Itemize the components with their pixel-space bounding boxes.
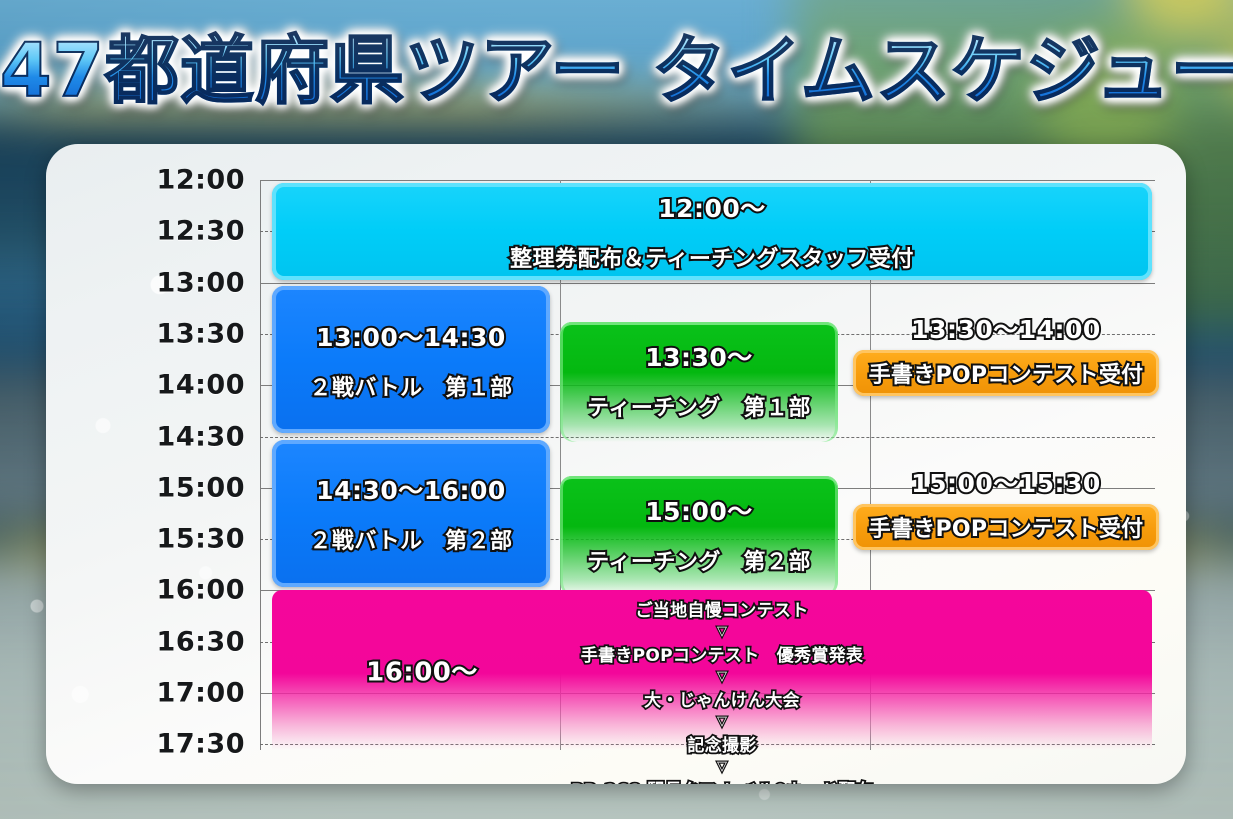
event-name: 手書きPOPコンテスト受付 [869,517,1144,542]
event-pop-reception-2[interactable]: 15:00～15:30手書きPOPコンテスト受付 [860,464,1152,550]
program-arrow-icon: ▽ [717,625,727,638]
event-teaching-1[interactable]: 13:30～ティーチング 第１部 [560,322,838,443]
time-axis-line [260,180,261,750]
program-arrow-icon: ▽ [717,670,727,683]
event-time: 12:00～ [658,189,766,225]
program-item: 記念撮影 [687,731,756,756]
program-arrow-icon: ▽ [717,715,727,728]
program-item: 大・じゃんけん大会 [644,686,800,711]
time-label-1230: 12:30 [85,216,245,247]
event-time: 13:30～ [645,338,753,374]
program-arrow-icon: ▽ [717,760,727,773]
event-name: ティーチング 第１部 [587,390,811,422]
schedule-card: 12:0012:3013:0013:3014:0014:3015:0015:30… [46,144,1186,784]
time-label-1600: 16:00 [85,575,245,606]
event-time: 13:30～14:00 [911,310,1101,346]
event-battle-1[interactable]: 13:00～14:30２戦バトル 第１部 [272,286,550,434]
program-item: ご当地自慢コンテスト [636,596,809,621]
event-pill: 手書きPOPコンテスト受付 [853,504,1160,550]
event-pop-reception-1[interactable]: 13:30～14:00手書きPOPコンテスト受付 [860,310,1152,396]
event-time: 14:30～16:00 [316,471,506,507]
schedule-grid: 12:0012:3013:0013:3014:0014:3015:0015:30… [215,180,1155,750]
event-teaching-2[interactable]: 15:00～ティーチング 第２部 [560,476,838,597]
event-finale[interactable]: 16:00～ご当地自慢コンテスト▽手書きPOPコンテスト 優秀賞発表▽大・じゃん… [272,590,1152,750]
program-item: 手書きPOPコンテスト 優秀賞発表 [581,641,863,666]
grid-line-1200 [260,180,1155,181]
time-label-1700: 17:00 [85,678,245,709]
time-label-1330: 13:30 [85,318,245,349]
event-name: ２戦バトル 第１部 [309,370,512,402]
time-label-1630: 16:30 [85,626,245,657]
event-time: 15:00～15:30 [911,464,1101,500]
event-name: 手書きPOPコンテスト受付 [869,363,1144,388]
time-label-1500: 15:00 [85,472,245,503]
time-label-1530: 15:30 [85,524,245,555]
event-name: ２戦バトル 第２部 [309,523,512,555]
time-label-1300: 13:00 [85,267,245,298]
page-title: 47都道府県ツアー タイムスケジュール [0,34,1233,108]
finale-program-list: ご当地自慢コンテスト▽手書きPOPコンテスト 優秀賞発表▽大・じゃんけん大会▽記… [572,596,872,784]
event-name: ティーチング 第２部 [587,544,811,576]
time-label-1400: 14:00 [85,370,245,401]
program-item: PR-268 駅長タマ レベル0カード配布 [571,776,873,784]
time-label-1200: 12:00 [85,165,245,196]
grid-line-1300 [260,283,1155,284]
time-label-1730: 17:30 [85,729,245,760]
event-reception[interactable]: 12:00～整理券配布＆ティーチングスタッフ受付 [272,183,1152,280]
event-time: 15:00～ [645,492,753,528]
time-label-1430: 14:30 [85,421,245,452]
event-pill: 手書きPOPコンテスト受付 [853,350,1160,396]
event-time: 13:00～14:30 [316,318,506,354]
event-time: 16:00～ [272,652,572,689]
finale-content: 16:00～ご当地自慢コンテスト▽手書きPOPコンテスト 優秀賞発表▽大・じゃん… [272,590,1152,750]
event-battle-2[interactable]: 14:30～16:00２戦バトル 第２部 [272,440,550,588]
event-name: 整理券配布＆ティーチングスタッフ受付 [510,241,914,273]
